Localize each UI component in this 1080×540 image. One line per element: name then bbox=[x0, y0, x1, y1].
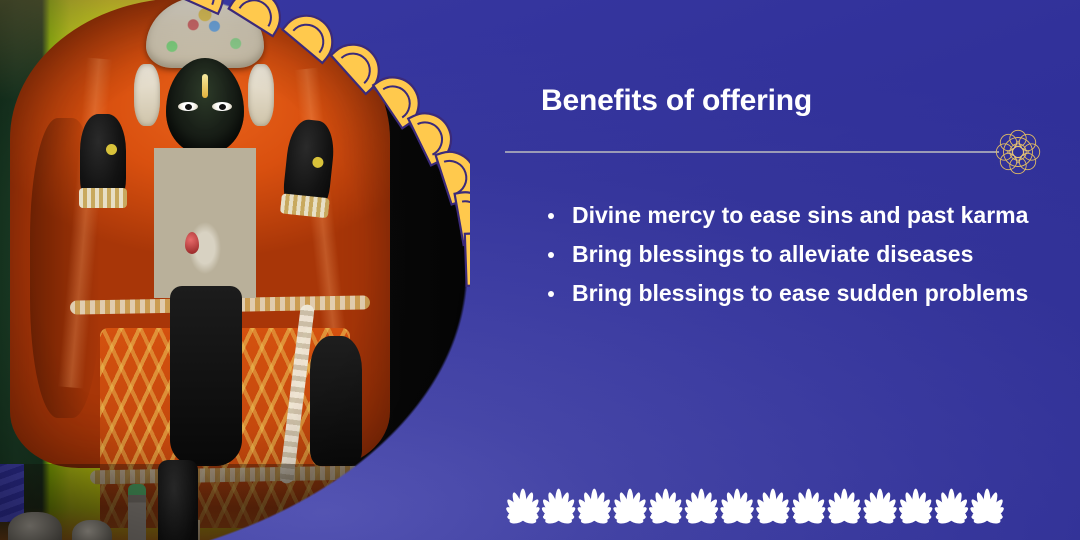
page-title: Benefits of offering bbox=[541, 84, 812, 118]
list-item: Bring blessings to ease sudden problems bbox=[540, 274, 1030, 313]
list-item: Divine mercy to ease sins and past karma bbox=[540, 196, 1030, 235]
horizontal-rule bbox=[505, 151, 999, 153]
lotus-border-ornament bbox=[505, 486, 1005, 528]
slide-canvas: Benefits of offering Divine mercy t bbox=[0, 0, 1080, 540]
content-region: Benefits of offering Divine mercy t bbox=[0, 0, 1080, 540]
benefits-list: Divine mercy to ease sins and past karma… bbox=[540, 196, 1030, 313]
list-item: Bring blessings to alleviate diseases bbox=[540, 235, 1030, 274]
mandala-rosette-icon bbox=[993, 127, 1043, 177]
